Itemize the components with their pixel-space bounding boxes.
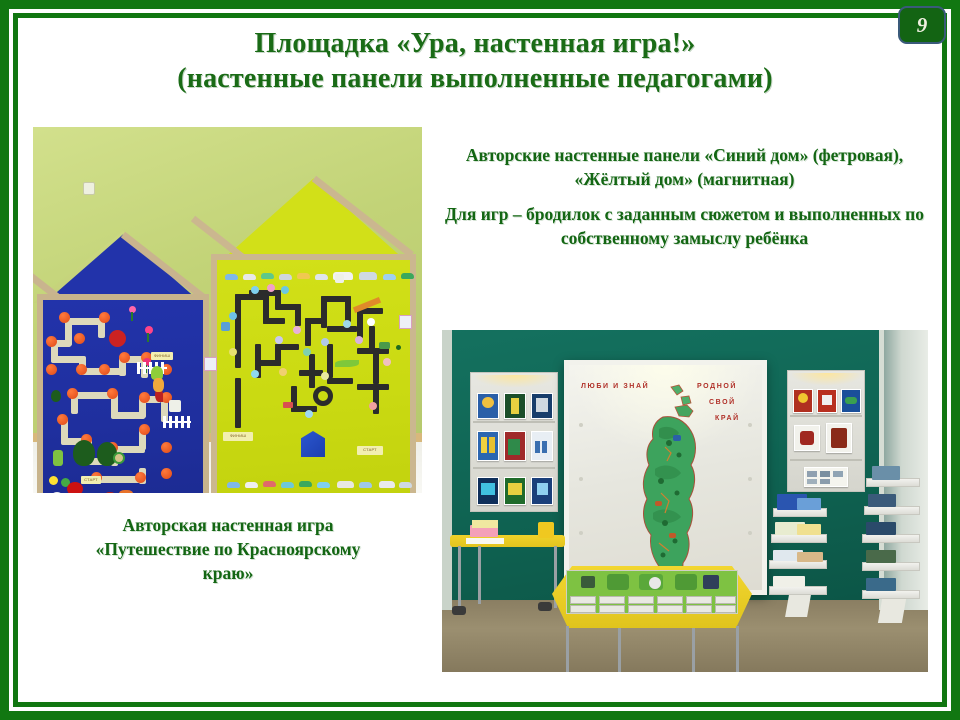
description-paragraph-2: Для игр – бродилок с заданным сюжетом и … bbox=[443, 202, 926, 250]
yellow-roof-fill bbox=[211, 175, 416, 259]
page-number-badge: 9 bbox=[898, 6, 946, 44]
caption-line-3: краю» bbox=[33, 561, 423, 585]
left-shelf-unit bbox=[470, 372, 558, 512]
caption-line-2: «Путешествие по Красноярскому bbox=[33, 537, 423, 561]
blue-house-panel: ФИНИШ СТАРТ bbox=[37, 231, 209, 493]
map-board: ЛЮБИ И ЗНАЙ РОДНОЙ СВОЙ КРАЙ bbox=[564, 360, 767, 595]
krai-game-board bbox=[566, 570, 738, 614]
right-shelf-unit bbox=[787, 370, 865, 492]
wall-socket bbox=[83, 182, 95, 195]
krasnoyarsk-krai-map bbox=[625, 383, 709, 591]
left-photo-caption: Авторская настенная игра «Путешествие по… bbox=[33, 513, 423, 585]
blue-panel-finish-tag: ФИНИШ bbox=[151, 352, 173, 360]
yellow-panel-start-tag: СТАРТ bbox=[357, 446, 383, 455]
page-number-value: 9 bbox=[917, 13, 928, 38]
title-line-1: Площадка «Ура, настенная игра!» bbox=[60, 26, 890, 61]
map-title-kray: КРАЙ bbox=[715, 415, 740, 422]
blue-panel-body: ФИНИШ СТАРТ bbox=[37, 294, 209, 493]
caption-line-1: Авторская настенная игра bbox=[33, 513, 423, 537]
blue-panel-start-tag: СТАРТ bbox=[81, 476, 101, 484]
title-line-2: (настенные панели выполненные педагогами… bbox=[60, 61, 890, 96]
map-title-svoy: СВОЙ bbox=[709, 399, 736, 406]
description-text-block: Авторские настенные панели «Синий дом» (… bbox=[443, 143, 926, 250]
slide-root: ФИНИШ СТАРТ bbox=[0, 0, 960, 720]
yellow-panel-finish-tag: ФИНИШ bbox=[223, 432, 253, 441]
blue-roof-fill bbox=[37, 231, 209, 299]
magazine-rack-center bbox=[767, 508, 829, 618]
map-room-photo: ЛЮБИ И ЗНАЙ РОДНОЙ СВОЙ КРАЙ bbox=[442, 330, 928, 672]
magazine-rack-right bbox=[860, 478, 922, 624]
yellow-panel-body: ФИНИШ СТАРТ bbox=[211, 254, 416, 493]
wall-panels-photo: ФИНИШ СТАРТ bbox=[33, 127, 422, 493]
room-left-wall-edge bbox=[442, 330, 452, 610]
page-title: Площадка «Ура, настенная игра!» (настенн… bbox=[60, 26, 890, 96]
description-paragraph-1: Авторские настенные панели «Синий дом» (… bbox=[443, 143, 926, 191]
